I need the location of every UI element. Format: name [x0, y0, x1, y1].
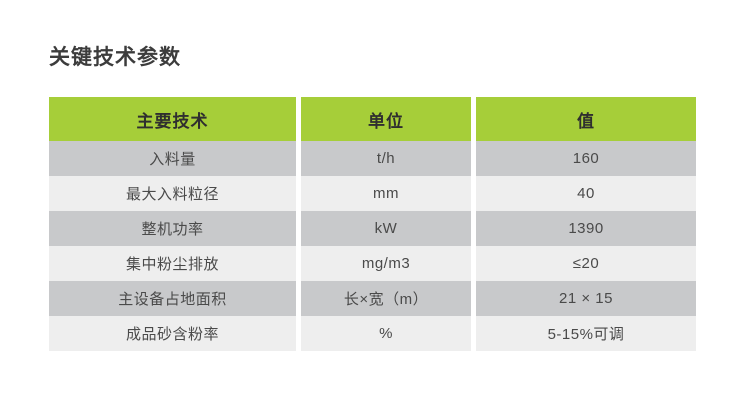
table-row: 整机功率 kW 1390: [49, 211, 696, 246]
table-row: 最大入料粒径 mm 40: [49, 176, 696, 211]
cell-parameter-unit: t/h: [301, 141, 471, 176]
cell-parameter-unit: mg/m3: [301, 246, 471, 281]
spec-sheet-page: 关键技术参数 主要技术 单位 值 入料量 t/h 160 最大入料粒径: [0, 0, 734, 411]
cell-parameter-value: ≤20: [476, 246, 696, 281]
cell-parameter-name: 入料量: [49, 141, 296, 176]
cell-parameter-name: 整机功率: [49, 211, 296, 246]
cell-parameter-unit: %: [301, 316, 471, 351]
table-header-row: 主要技术 单位 值: [49, 97, 696, 141]
table-row: 入料量 t/h 160: [49, 141, 696, 176]
cell-parameter-name: 成品砂含粉率: [49, 316, 296, 351]
cell-parameter-name: 主设备占地面积: [49, 281, 296, 316]
key-technical-parameters-table: 主要技术 单位 值 入料量 t/h 160 最大入料粒径 mm 40: [49, 97, 696, 351]
column-header-main-technology: 主要技术: [49, 97, 296, 141]
cell-parameter-value: 40: [476, 176, 696, 211]
column-header-value: 值: [476, 97, 696, 141]
table-header: 主要技术 单位 值: [49, 97, 696, 141]
cell-parameter-value: 160: [476, 141, 696, 176]
table-row: 集中粉尘排放 mg/m3 ≤20: [49, 246, 696, 281]
table-body: 入料量 t/h 160 最大入料粒径 mm 40 整机功率 kW 1390: [49, 141, 696, 351]
page-title: 关键技术参数: [49, 44, 181, 72]
column-header-unit: 单位: [301, 97, 471, 141]
cell-parameter-unit: kW: [301, 211, 471, 246]
cell-parameter-value: 5-15%可调: [476, 316, 696, 351]
cell-parameter-value: 21 × 15: [476, 281, 696, 316]
table-row: 成品砂含粉率 % 5-15%可调: [49, 316, 696, 351]
cell-parameter-name: 集中粉尘排放: [49, 246, 296, 281]
cell-parameter-value: 1390: [476, 211, 696, 246]
cell-parameter-unit: 长×宽（m）: [301, 281, 471, 316]
cell-parameter-unit: mm: [301, 176, 471, 211]
cell-parameter-name: 最大入料粒径: [49, 176, 296, 211]
table-row: 主设备占地面积 长×宽（m） 21 × 15: [49, 281, 696, 316]
